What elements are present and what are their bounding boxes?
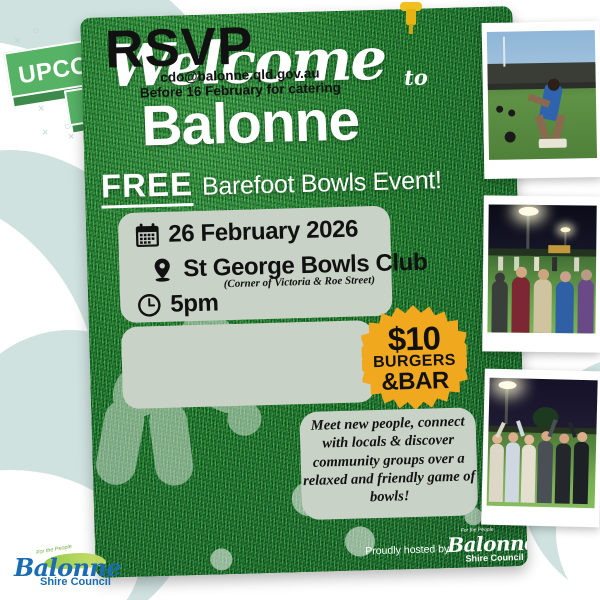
- map-pin-icon: [149, 257, 176, 284]
- poster-logo-sub: Shire Council: [465, 552, 523, 564]
- photo-frame-1: [482, 21, 600, 179]
- photo-bowler-delivering-bowl: [487, 30, 597, 160]
- burst-bar-label: &BAR: [362, 366, 468, 397]
- deco-x-4: ×: [42, 128, 48, 139]
- barefoot-bowls-label: Barefoot Bowls Event!: [202, 166, 442, 201]
- burgers-and-bar-badge: $10 BURGERS &BAR: [360, 303, 468, 411]
- hosted-by-label: Proudly hosted by: [365, 543, 449, 557]
- detail-row-time: 5pm: [136, 289, 219, 319]
- photo-group-celebrating: [487, 378, 598, 509]
- free-label: FREE: [100, 165, 193, 209]
- deco-o-1: ○: [32, 24, 39, 36]
- sil-leg-back: [93, 396, 148, 488]
- pin-neck: [406, 9, 416, 25]
- calendar-icon: [134, 222, 161, 249]
- message-text: Meet new people, connect with locals & d…: [299, 412, 477, 508]
- photo-night-bowls-crowd: [487, 204, 596, 333]
- photo-frame-2: [482, 195, 600, 352]
- photo-frame-3: [481, 369, 600, 528]
- poster-council-logo: For the People Balonne Shire Council: [447, 526, 526, 568]
- clock-icon: [136, 292, 163, 319]
- deco-x-5: ×: [68, 132, 74, 143]
- pushpin-icon: [398, 2, 424, 34]
- logo-sub: Shire Council: [40, 576, 111, 588]
- poster-screenshot: × ○ × ○ × × ○ × × ○ × UPCOMING EVENT: [0, 0, 600, 600]
- event-poster: Welcome to Balonne FREEBarefoot Bowls Ev…: [80, 6, 527, 578]
- rsvp-card: [121, 320, 375, 409]
- balonne-shire-council-logo: For the People Balonne Shire Council: [8, 545, 128, 593]
- sil-leg-front: [147, 400, 196, 488]
- headline-to: to: [404, 64, 428, 90]
- headline-balonne: Balonne: [141, 92, 360, 155]
- detail-time-text: 5pm: [170, 289, 219, 318]
- pin-tip: [409, 24, 413, 34]
- sil-hand-bowl: [227, 401, 262, 436]
- detail-date-text: 26 February 2026: [168, 215, 358, 248]
